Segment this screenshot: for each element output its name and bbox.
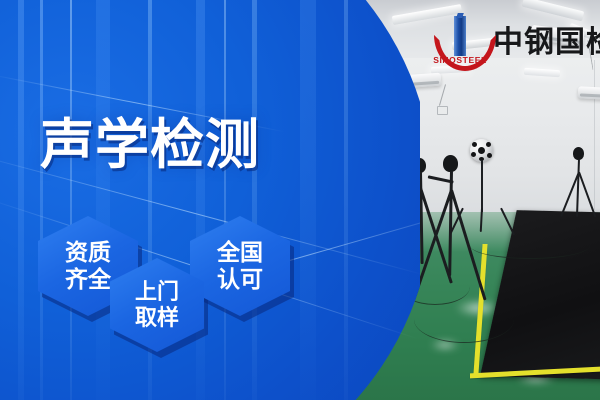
badge-line-2: 齐全 [65, 266, 111, 293]
cable-on-floor [414, 296, 514, 343]
cable-on-floor [470, 232, 590, 259]
badge-line-2: 认可 [217, 266, 263, 293]
light-streak [70, 0, 72, 400]
light-streak [344, 0, 348, 400]
light-streak [300, 0, 316, 400]
speaker-stand [481, 160, 483, 212]
sinosteel-logo: SINOSTEEL 中钢国检 TM [432, 16, 600, 62]
blue-circle [0, 0, 420, 400]
light-streak [252, 0, 257, 400]
logo-english-text: SINOSTEEL [432, 55, 488, 65]
banner-image: SINOSTEEL 中钢国检 TM 声学检测 资质 齐全 [0, 0, 600, 400]
blue-overlay-panel: 声学检测 资质 齐全 全国 认可 上门 取样 [0, 0, 420, 400]
wall-ac-unit [578, 86, 600, 99]
microphone-capsule [443, 155, 458, 172]
speaker-driver [487, 153, 492, 158]
light-streak [18, 0, 24, 400]
dodecahedron-speaker [470, 139, 493, 162]
badge-line-2: 取样 [135, 305, 179, 331]
badge-line-1: 全国 [217, 239, 263, 266]
light-streak [96, 0, 110, 400]
badge-line-1: 上门 [135, 279, 179, 305]
light-streak [40, 0, 43, 400]
badge-line-1: 资质 [65, 239, 111, 266]
wall-socket [437, 106, 448, 115]
light-streak [224, 0, 226, 400]
sinosteel-pillar-swoosh-icon: SINOSTEEL [432, 16, 488, 62]
wall-seam [594, 60, 595, 210]
speaker-driver [486, 142, 491, 147]
speaker-driver [471, 152, 476, 157]
speaker-driver [472, 142, 477, 147]
page-title: 声学检测 [40, 118, 260, 172]
logo-chinese-text: 中钢国检 [493, 17, 600, 61]
speaker-driver [478, 147, 485, 154]
light-streak [196, 0, 205, 400]
